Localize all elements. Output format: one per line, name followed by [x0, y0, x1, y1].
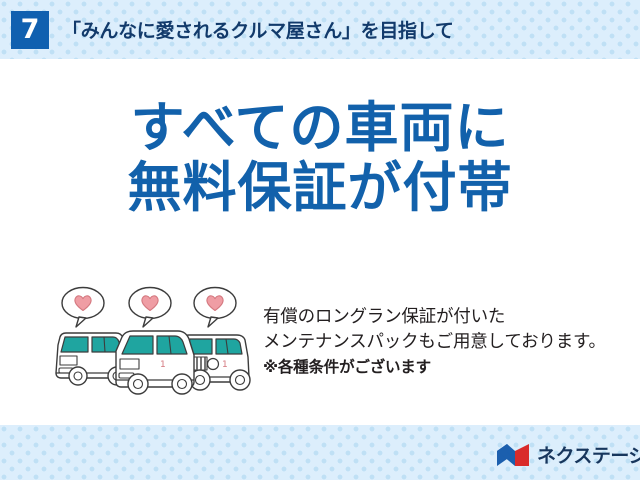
warranty-promo-banner: 7 「みんなに愛されるクルマ屋さん」を目指して すべての車両に 無料保証が付帯 [0, 0, 640, 480]
headline-line-2: 無料保証が付帯 [0, 158, 640, 218]
brand-name: ネクステージ [537, 441, 640, 468]
headline-line-1: すべての車両に [0, 98, 640, 158]
heart-bubble-2 [129, 288, 171, 328]
svg-text:1: 1 [160, 360, 166, 370]
lower-content: 1 [0, 285, 640, 410]
page-title: すべての車両に 無料保証が付帯 [0, 98, 640, 218]
note-line-1: 有償のロングラン保証が付いた [263, 305, 606, 330]
heart-bubble-1 [62, 288, 104, 328]
nexstage-n-mark-icon [495, 442, 531, 468]
svg-text:1: 1 [222, 360, 228, 370]
car-minivan: 1 [116, 331, 194, 394]
note-line-2: メンテナンスパックもご用意しております。 [263, 330, 606, 355]
step-number-badge: 7 [11, 11, 49, 49]
header-title: 「みんなに愛されるクルマ屋さん」を目指して [62, 16, 454, 43]
note-line-3: ※各種条件がございます [263, 355, 606, 380]
warranty-notes: 有償のロングラン保証が付いた メンテナンスパックもご用意しております。 ※各種条… [263, 305, 606, 380]
heart-bubble-3 [194, 288, 236, 328]
three-cars-with-heart-bubbles-illustration: 1 [52, 285, 257, 403]
brand-logo: ネクステージ [495, 441, 640, 468]
header: 7 「みんなに愛されるクルマ屋さん」を目指して [0, 0, 640, 59]
